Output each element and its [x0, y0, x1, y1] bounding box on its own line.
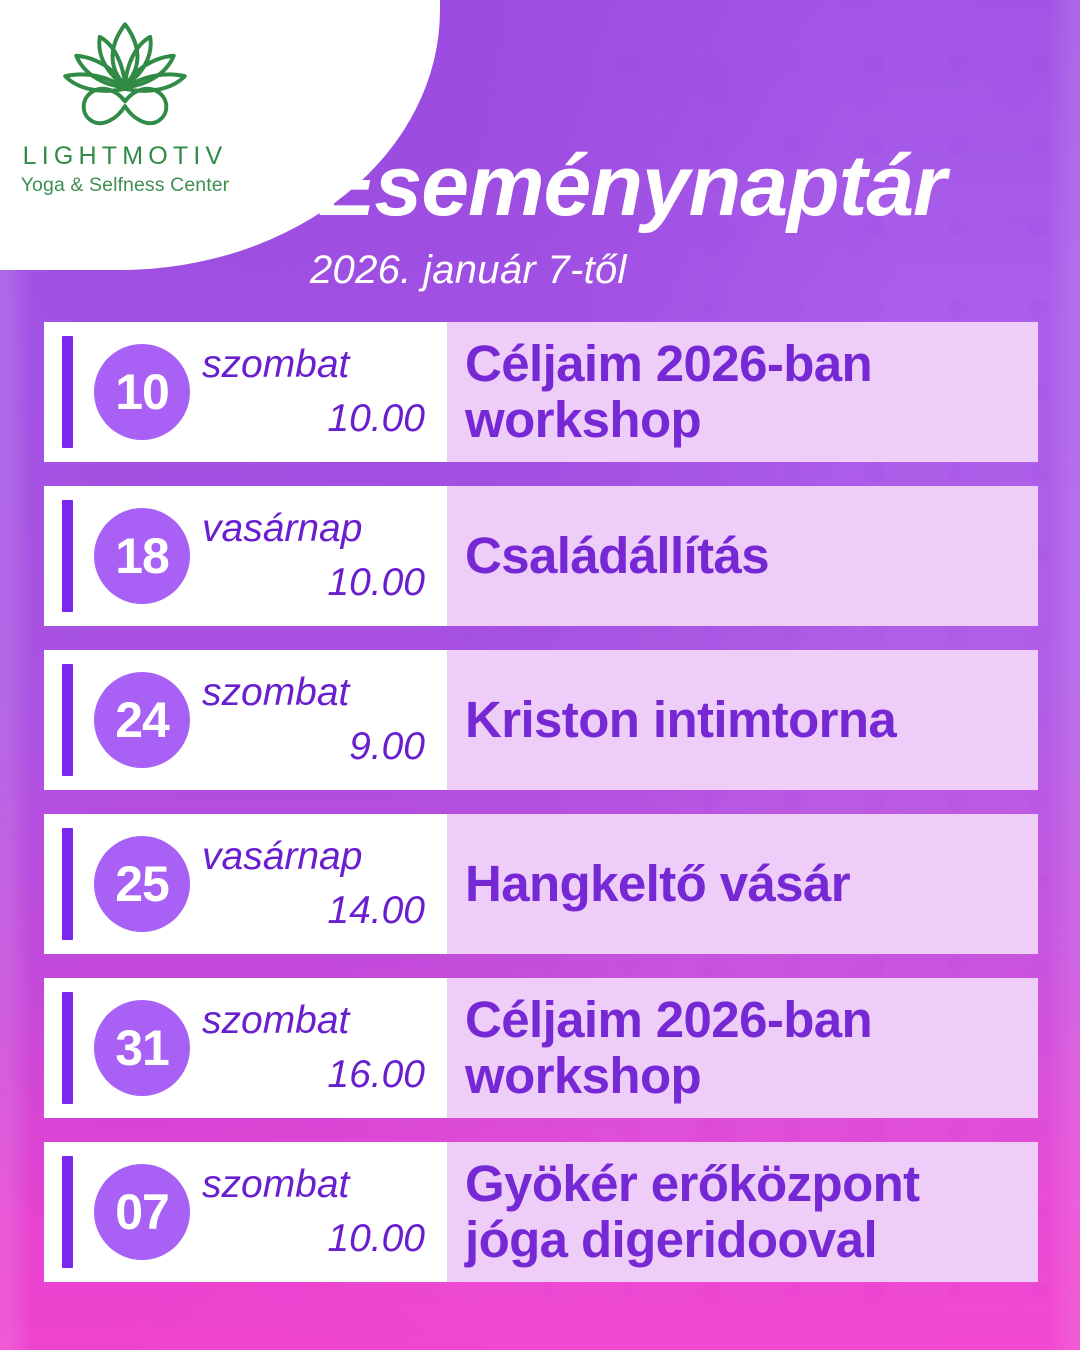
event-title-cell: Céljaim 2026-ban workshop: [447, 978, 1038, 1118]
event-title-cell: Kriston intimtorna: [447, 650, 1038, 790]
event-weekday: szombat: [202, 666, 425, 720]
event-date-text: vasárnap10.00: [190, 502, 447, 610]
event-date-cell: 24szombat9.00: [44, 650, 447, 790]
event-title-cell: Hangkeltő vásár: [447, 814, 1038, 954]
day-number-badge: 10: [94, 344, 190, 440]
event-title: Kriston intimtorna: [465, 692, 896, 748]
day-number-badge: 24: [94, 672, 190, 768]
event-title: Céljaim 2026-ban workshop: [465, 336, 1018, 448]
event-time: 10.00: [202, 556, 425, 610]
event-time: 9.00: [202, 720, 425, 774]
event-weekday: vasárnap: [202, 502, 425, 556]
event-time: 10.00: [202, 1212, 425, 1266]
brand-tagline: Yoga & Selfness Center: [21, 174, 230, 197]
accent-bar: [62, 664, 73, 776]
accent-bar: [62, 500, 73, 612]
event-weekday: szombat: [202, 1158, 425, 1212]
event-title-cell: Céljaim 2026-ban workshop: [447, 322, 1038, 462]
event-weekday: szombat: [202, 338, 425, 392]
event-row[interactable]: 31szombat16.00Céljaim 2026-ban workshop: [44, 978, 1038, 1118]
event-time: 14.00: [202, 884, 425, 938]
day-number-badge: 07: [94, 1164, 190, 1260]
event-date-cell: 10szombat10.00: [44, 322, 447, 462]
event-date-cell: 07szombat10.00: [44, 1142, 447, 1282]
event-date-cell: 31szombat16.00: [44, 978, 447, 1118]
day-number-badge: 18: [94, 508, 190, 604]
brand-name: LIGHTMOTIV: [23, 142, 228, 171]
event-time: 10.00: [202, 392, 425, 446]
event-weekday: szombat: [202, 994, 425, 1048]
day-number-badge: 31: [94, 1000, 190, 1096]
event-date-text: szombat10.00: [190, 338, 447, 446]
event-date-text: vasárnap14.00: [190, 830, 447, 938]
logo-block: LIGHTMOTIV Yoga & Selfness Center: [0, 0, 250, 250]
event-weekday: vasárnap: [202, 830, 425, 884]
event-title: Családállítás: [465, 528, 769, 584]
event-row[interactable]: 24szombat9.00Kriston intimtorna: [44, 650, 1038, 790]
event-date-cell: 25vasárnap14.00: [44, 814, 447, 954]
event-title: Hangkeltő vásár: [465, 856, 850, 912]
day-number-badge: 25: [94, 836, 190, 932]
event-title-cell: Családállítás: [447, 486, 1038, 626]
event-date-text: szombat16.00: [190, 994, 447, 1102]
event-time: 16.00: [202, 1048, 425, 1102]
event-row[interactable]: 18vasárnap10.00Családállítás: [44, 486, 1038, 626]
event-title: Gyökér erőközpont jóga digeridooval: [465, 1156, 1018, 1268]
accent-bar: [62, 992, 73, 1104]
event-date-text: szombat9.00: [190, 666, 447, 774]
event-title-cell: Gyökér erőközpont jóga digeridooval: [447, 1142, 1038, 1282]
lotus-infinity-icon: [45, 18, 205, 136]
event-row[interactable]: 10szombat10.00Céljaim 2026-ban workshop: [44, 322, 1038, 462]
event-date-text: szombat10.00: [190, 1158, 447, 1266]
accent-bar: [62, 1156, 73, 1268]
page-subtitle: 2026. január 7-től: [310, 248, 627, 293]
accent-bar: [62, 336, 73, 448]
event-list: 10szombat10.00Céljaim 2026-ban workshop1…: [44, 322, 1038, 1306]
page-title: Eseménynaptár: [318, 143, 946, 229]
event-date-cell: 18vasárnap10.00: [44, 486, 447, 626]
event-title: Céljaim 2026-ban workshop: [465, 992, 1018, 1104]
event-row[interactable]: 07szombat10.00Gyökér erőközpont jóga dig…: [44, 1142, 1038, 1282]
event-row[interactable]: 25vasárnap14.00Hangkeltő vásár: [44, 814, 1038, 954]
accent-bar: [62, 828, 73, 940]
